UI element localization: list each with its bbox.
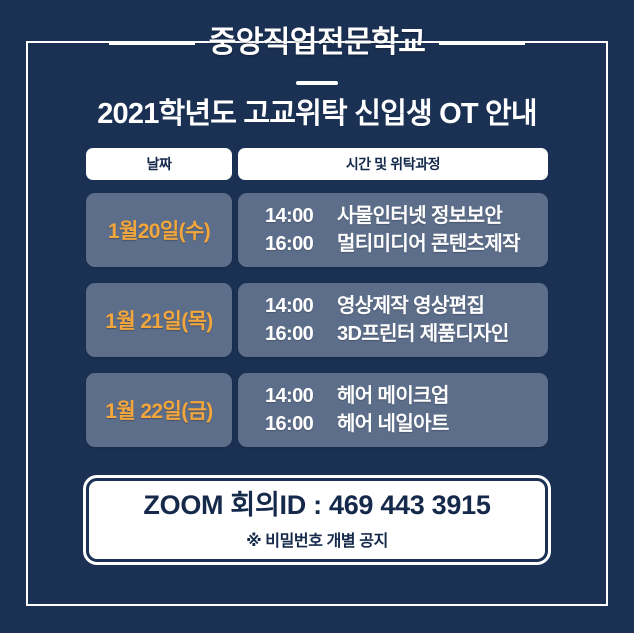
table-row: 1월20일(수) 14:00사물인터넷 정보보안 16:00멀티미디어 콘텐츠제… (86, 193, 548, 267)
session-line: 14:00사물인터넷 정보보안 (265, 202, 502, 230)
row-date: 1월20일(수) (86, 193, 232, 267)
session-line: 16:00멀티미디어 콘텐츠제작 (265, 230, 520, 258)
row-date: 1월 21일(목) (86, 283, 232, 357)
column-header-date: 날짜 (86, 148, 232, 180)
session-time: 16:00 (265, 410, 337, 438)
row-sessions: 14:00사물인터넷 정보보안 16:00멀티미디어 콘텐츠제작 (238, 193, 548, 267)
zoom-info-box: ZOOM 회의ID : 469 443 3915 ※ 비밀번호 개별 공지 (86, 478, 548, 562)
session-course: 헤어 메이크업 (337, 385, 449, 407)
row-date: 1월 22일(금) (86, 373, 232, 447)
title-rule-right (439, 42, 525, 45)
session-line: 16:003D프린터 제품디자인 (265, 320, 509, 348)
session-course: 헤어 네일아트 (337, 413, 449, 435)
table-row: 1월 22일(금) 14:00헤어 메이크업 16:00헤어 네일아트 (86, 373, 548, 447)
session-time: 14:00 (265, 382, 337, 410)
session-course: 사물인터넷 정보보안 (337, 205, 502, 227)
session-line: 16:00헤어 네일아트 (265, 410, 449, 438)
session-time: 16:00 (265, 320, 337, 348)
zoom-password-note: ※ 비밀번호 개별 공지 (246, 527, 388, 551)
schedule-table: 날짜 시간 및 위탁과정 1월20일(수) 14:00사물인터넷 정보보안 16… (86, 148, 548, 463)
title-divider (296, 81, 338, 85)
table-row: 1월 21일(목) 14:00영상제작 영상편집 16:003D프린터 제품디자… (86, 283, 548, 357)
poster-header: 중앙직업전문학교 2021학년도 고교위탁 신입생 OT 안내 (0, 0, 634, 140)
session-time: 16:00 (265, 230, 337, 258)
poster-subtitle: 2021학년도 고교위탁 신입생 OT 안내 (0, 96, 634, 132)
school-title-row: 중앙직업전문학교 (0, 20, 634, 66)
session-course: 멀티미디어 콘텐츠제작 (337, 233, 520, 255)
session-line: 14:00헤어 메이크업 (265, 382, 449, 410)
title-rule-left (109, 42, 195, 45)
row-sessions: 14:00영상제작 영상편집 16:003D프린터 제품디자인 (238, 283, 548, 357)
zoom-meeting-id: ZOOM 회의ID : 469 443 3915 (143, 489, 490, 521)
session-line: 14:00영상제작 영상편집 (265, 292, 484, 320)
poster-canvas: 중앙직업전문학교 2021학년도 고교위탁 신입생 OT 안내 날짜 시간 및 … (0, 0, 634, 633)
session-course: 영상제작 영상편집 (337, 295, 484, 317)
row-sessions: 14:00헤어 메이크업 16:00헤어 네일아트 (238, 373, 548, 447)
session-time: 14:00 (265, 292, 337, 320)
session-course: 3D프린터 제품디자인 (337, 323, 509, 345)
school-name: 중앙직업전문학교 (209, 28, 426, 58)
table-header-row: 날짜 시간 및 위탁과정 (86, 148, 548, 180)
session-time: 14:00 (265, 202, 337, 230)
column-header-course: 시간 및 위탁과정 (238, 148, 548, 180)
